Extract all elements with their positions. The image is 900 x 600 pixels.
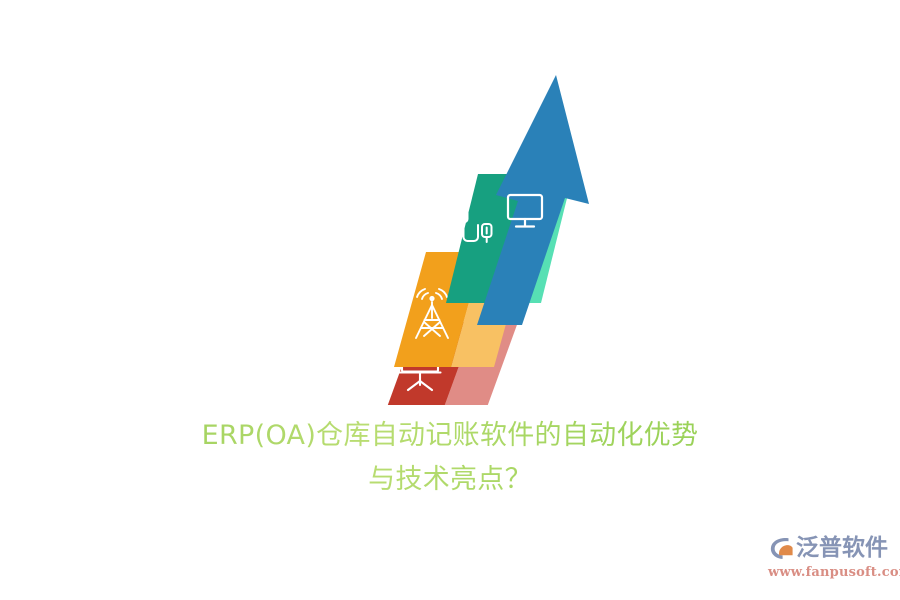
poster-canvas: ERP(OA)仓库自动记账软件的自动化优势 与技术亮点？ 泛普软件 www.fa… <box>0 0 900 600</box>
headline-line-1: ERP(OA)仓库自动记账软件的自动化优势 <box>0 414 900 458</box>
headline-line-2: 与技术亮点？ <box>0 458 900 502</box>
ascending-arrow-illustration <box>300 70 590 405</box>
brand-wordmark: 泛普软件 <box>796 535 888 561</box>
brand-url: www.fanpusoft.com <box>768 565 890 580</box>
fanpu-swoosh-logo-icon <box>768 535 794 561</box>
brand-watermark: 泛普软件 www.fanpusoft.com <box>768 533 890 583</box>
brand-logo-row: 泛普软件 <box>768 533 890 563</box>
page-title: ERP(OA)仓库自动记账软件的自动化优势 与技术亮点？ <box>0 414 900 502</box>
